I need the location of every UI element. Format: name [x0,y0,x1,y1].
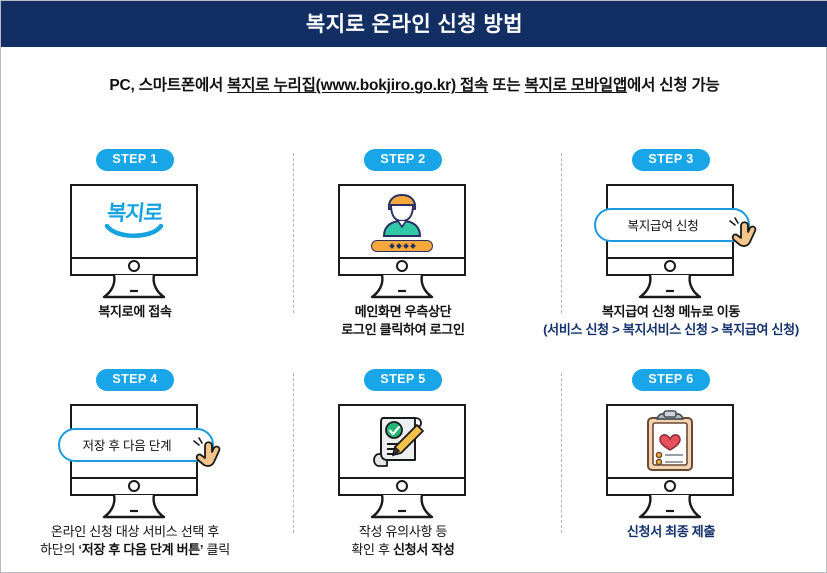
monitor-camera-icon [128,260,140,272]
caption-line: 하단의 ‘저장 후 다음 단계 버튼’ 클릭 [0,541,285,560]
save-and-next-step-button[interactable]: 저장 후 다음 단계 [58,428,214,462]
step-badge-3: STEP 3 [632,149,709,171]
caption-line: 확인 후 신청서 작성 [253,541,553,560]
smile-curve-icon [104,224,164,240]
welfare-benefit-apply-button[interactable]: 복지급여 신청 [594,208,750,242]
monitor-illustration-2 [338,184,468,294]
step-caption-5: 작성 유의사항 등 확인 후 신청서 작성 [253,523,553,561]
password-field[interactable] [371,240,433,252]
button-label: 복지급여 신청 [627,215,716,234]
page-header: 복지로 온라인 신청 방법 [1,1,827,47]
monitor-camera-icon [396,260,408,272]
step-badge-1: STEP 1 [96,149,173,171]
step-caption-1: 복지로에 접속 [0,303,285,322]
clipboard-heart-checklist-icon [642,410,698,472]
monitor-screen [606,404,734,479]
caption-emphasis: 신청서 작성 [393,542,455,557]
caption-emphasis: ‘저장 후 다음 단계 버튼’ [78,542,203,557]
caption-part: 하단의 [40,542,78,557]
subtitle-post: 에서 신청 가능 [627,77,720,94]
bokjiro-logo-icon: 복지로 [104,203,164,240]
caption-line: 메인화면 우측상단 [253,303,553,322]
monitor-camera-icon [664,260,676,272]
button-label: 저장 후 다음 단계 [83,435,190,454]
monitor-screen: 저장 후 다음 단계 [70,404,198,479]
step-badge-5: STEP 5 [364,369,441,391]
hand-pointer-icon [192,436,228,470]
caption-line: 복지로에 접속 [0,303,285,322]
monitor-screen: 복지로 [70,184,198,259]
monitor-screen [338,184,466,259]
subtitle-link-mobileapp[interactable]: 복지로 모바일앱 [525,77,628,94]
monitor-chin [606,479,734,496]
monitor-camera-icon [128,480,140,492]
monitor-illustration-1: 복지로 [70,184,200,294]
caption-line: 작성 유의사항 등 [253,523,553,542]
monitor-camera-icon [664,480,676,492]
hand-pointer-icon [728,216,764,250]
step-caption-4: 온라인 신청 대상 서비스 선택 후 하단의 ‘저장 후 다음 단계 버튼’ 클… [0,523,285,561]
monitor-screen [338,404,466,479]
page-title: 복지로 온라인 신청 방법 [306,8,523,38]
monitor-screen: 복지급여 신청 [606,184,734,259]
step-card-1: STEP 1 복지로 [1,131,269,351]
monitor-stand-icon [100,275,168,301]
user-avatar-icon [376,191,428,237]
monitor-chin [338,479,466,496]
monitor-chin [606,259,734,276]
step-card-3: STEP 3 복지급여 신청 [537,131,805,351]
subtitle-link-website[interactable]: 복지로 누리집(www.bokjiro.go.kr) 접속 [227,77,488,94]
monitor-chin [338,259,466,276]
caption-line: 신청서 최종 제출 [521,523,821,542]
caption-part: 클릭 [203,542,230,557]
monitor-stand-icon [636,275,704,301]
step-caption-3: 복지급여 신청 메뉴로 이동 (서비스 신청 > 복지서비스 신청 > 복지급여… [511,303,827,341]
monitor-stand-icon [368,495,436,521]
subtitle-pre: PC, 스마트폰에서 [109,77,227,94]
monitor-chin [70,479,198,496]
steps-row-1: STEP 1 복지로 [1,131,827,351]
subtitle: PC, 스마트폰에서 복지로 누리집(www.bokjiro.go.kr) 접속… [1,73,827,95]
step-card-6: STEP 6 [537,351,805,571]
caption-part: 확인 후 [351,542,393,557]
monitor-stand-icon [368,275,436,301]
monitor-illustration-3: 복지급여 신청 [606,184,736,294]
document-check-pencil-icon [371,410,433,472]
step-card-4: STEP 4 저장 후 다음 단계 [1,351,269,571]
monitor-chin [70,259,198,276]
step-badge-6: STEP 6 [632,369,709,391]
steps-row-2: STEP 4 저장 후 다음 단계 [1,351,827,571]
monitor-illustration-5 [338,404,468,514]
monitor-stand-icon [100,495,168,521]
step-caption-6: 신청서 최종 제출 [521,523,821,542]
step-card-5: STEP 5 [269,351,537,571]
monitor-illustration-4: 저장 후 다음 단계 [70,404,200,514]
step-card-2: STEP 2 [269,131,537,351]
step-badge-2: STEP 2 [364,149,441,171]
caption-line: 온라인 신청 대상 서비스 선택 후 [0,523,285,542]
monitor-camera-icon [396,480,408,492]
steps-grid: STEP 1 복지로 [1,131,827,571]
infographic-page: 복지로 온라인 신청 방법 PC, 스마트폰에서 복지로 누리집(www.bok… [0,0,827,573]
step-badge-4: STEP 4 [96,369,173,391]
caption-line: 로그인 클릭하여 로그인 [253,321,553,340]
subtitle-mid: 또는 [488,77,524,94]
caption-line: 복지급여 신청 메뉴로 이동 [511,303,827,322]
step-caption-2: 메인화면 우측상단 로그인 클릭하여 로그인 [253,303,553,341]
monitor-illustration-6 [606,404,736,514]
caption-line-path: (서비스 신청 > 복지서비스 신청 > 복지급여 신청) [511,321,827,340]
login-avatar-icon [371,191,433,252]
bokjiro-logo-text: 복지로 [105,203,162,224]
monitor-stand-icon [636,495,704,521]
